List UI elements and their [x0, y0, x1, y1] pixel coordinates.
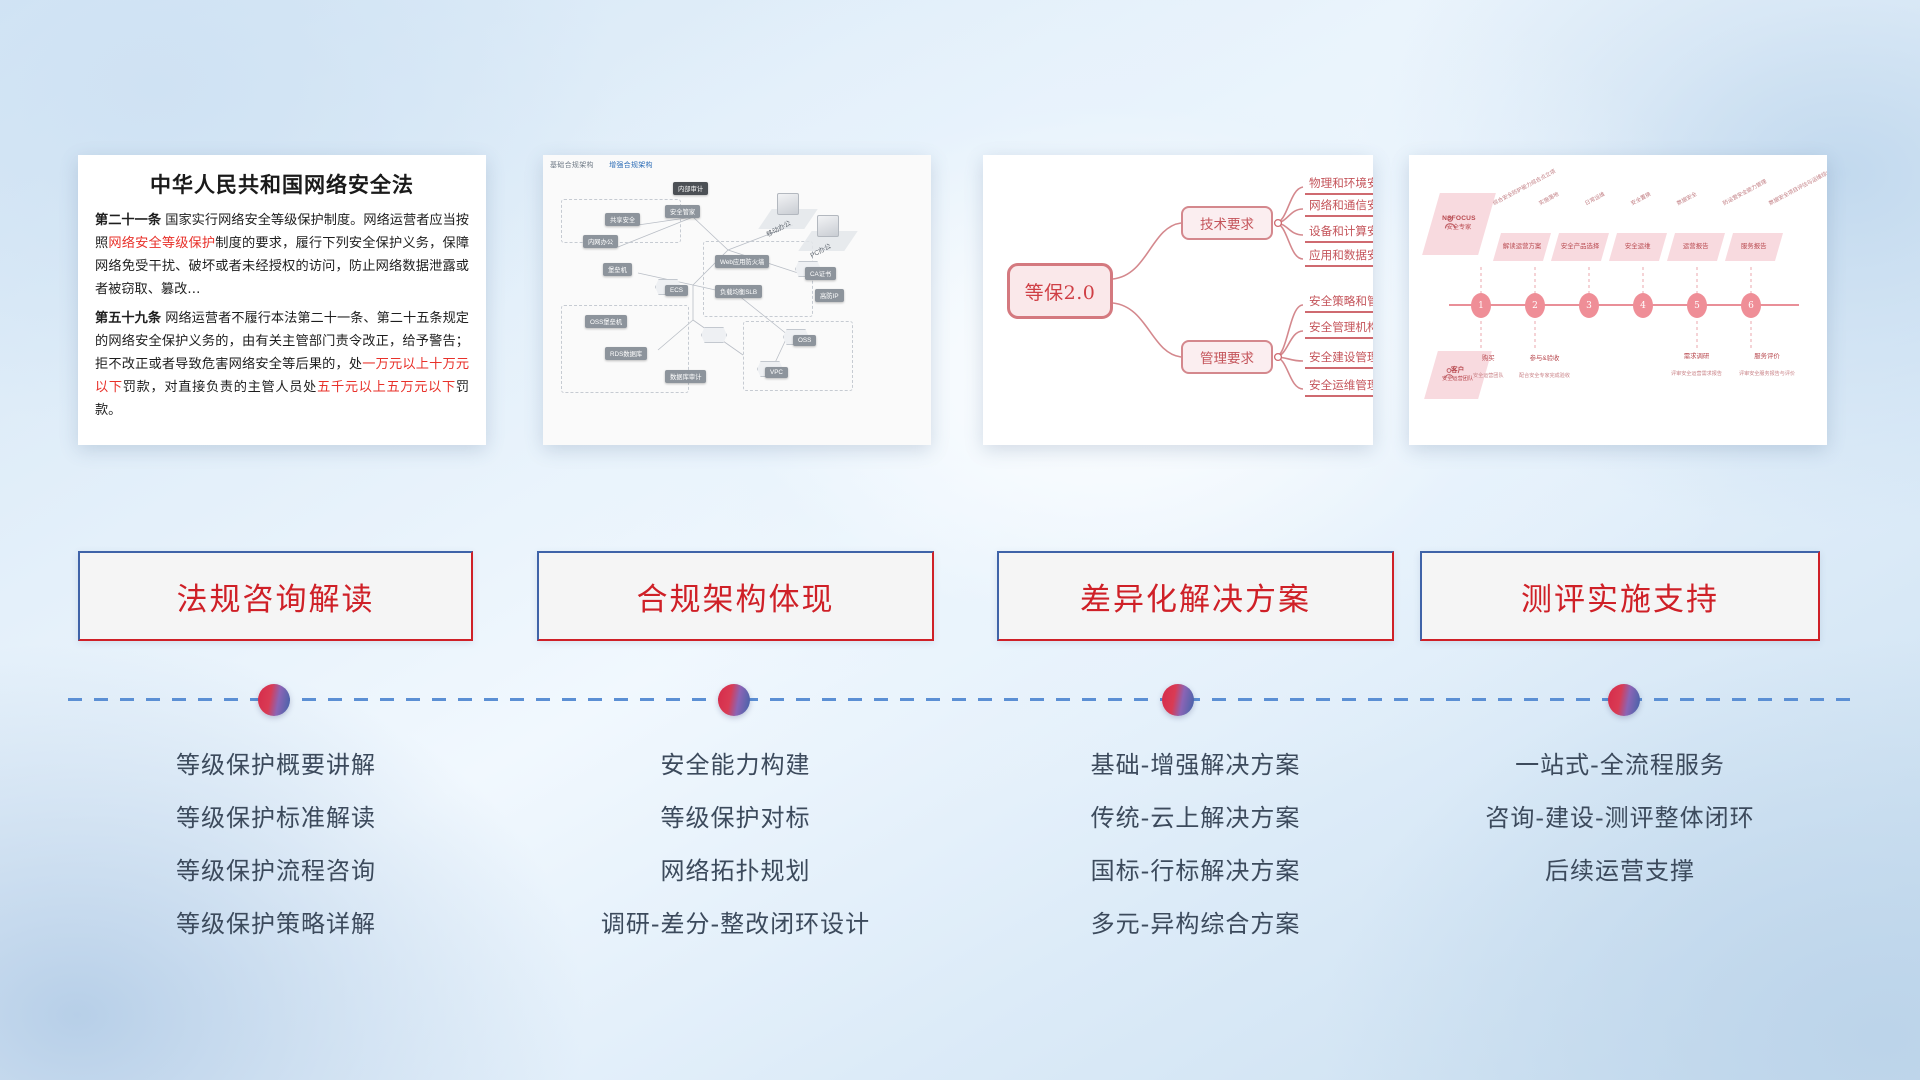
arch-node: 内网办公 — [583, 235, 618, 248]
flow-bottom-label: 需求调研评审安全运营需求报告 — [1671, 351, 1722, 377]
flow-bottom-title: 服务评价 — [1739, 351, 1795, 360]
law-paragraph: 第二十一条 国家实行网络安全等级保护制度。网络运营者应当按照网络安全等级保护制度… — [95, 210, 469, 302]
flow-bottom-title: 购买 — [1473, 353, 1504, 362]
flow-phase: 安全运维 — [1609, 233, 1667, 261]
mindmap-leaf: 物理和环境安全 — [1305, 175, 1373, 195]
section-items-1: 等级保护概要讲解等级保护标准解读等级保护流程咨询等级保护策略详解 — [78, 745, 474, 957]
arch-hex — [701, 327, 727, 343]
flow-bottom-label: 参与&验收配合安全专家完成验收 — [1519, 353, 1570, 379]
section-item: 等级保护对标 — [537, 798, 934, 833]
section-item: 网络拓扑规划 — [537, 851, 934, 886]
flow-bottom-subtitle: 评审安全服务报告与评价 — [1739, 370, 1795, 377]
flow-step-4: 4 — [1633, 293, 1653, 318]
law-title: 中华人民共和国网络安全法 — [95, 169, 469, 199]
architecture-image-card: 基础合规架构 增强合规架构 — [543, 155, 931, 445]
section-title-label: 法规咨询解读 — [177, 574, 375, 619]
law-article-number: 第五十九条 — [95, 311, 161, 326]
arch-node: ECS — [665, 285, 688, 296]
arch-node: 内部审计 — [673, 182, 708, 195]
section-title-label: 合规架构体现 — [637, 574, 835, 619]
mindmap-leaf: 安全建设管理 — [1305, 349, 1373, 369]
person-star-icon — [1442, 215, 1458, 231]
section-item: 等级保护流程咨询 — [78, 851, 474, 886]
section-item: 传统-云上解决方案 — [997, 798, 1394, 833]
arch-device-cube — [777, 193, 799, 215]
section-title-label: 测评实施支持 — [1521, 574, 1719, 619]
arch-zone — [703, 241, 813, 317]
arch-node: 高防IP — [815, 289, 844, 302]
timeline-dot-2 — [718, 684, 750, 716]
section-item: 咨询-建设-测评整体闭环 — [1420, 798, 1820, 833]
law-content: 中华人民共和国网络安全法 第二十一条 国家实行网络安全等级保护制度。网络运营者应… — [78, 155, 486, 439]
flow-phase: 服务报告 — [1725, 233, 1783, 261]
law-article-number: 第二十一条 — [95, 213, 161, 228]
law-paragraph: 第五十九条 网络运营者不履行本法第二十一条、第二十五条规定的网络安全保护义务的，… — [95, 308, 469, 423]
architecture-diagram: 基础合规架构 增强合规架构 — [543, 155, 931, 445]
timeline-dot-4 — [1608, 684, 1640, 716]
section-items-4: 一站式-全流程服务咨询-建设-测评整体闭环后续运营支撑 — [1420, 745, 1820, 904]
section-item: 多元-异构综合方案 — [997, 904, 1394, 939]
slide-canvas: 中华人民共和国网络安全法 第二十一条 国家实行网络安全等级保护制度。网络运营者应… — [0, 0, 1920, 1080]
law-highlight-text: 网络安全等级保护 — [108, 236, 215, 251]
section-item: 国标-行标解决方案 — [997, 851, 1394, 886]
arch-node: 负载均衡SLB — [715, 285, 762, 298]
mindmap-image-card: 等保2.0 技术要求 管理要求 物理和环境安全网络和通信安全设备和计算安全应用和… — [983, 155, 1373, 445]
section-items-3: 基础-增强解决方案传统-云上解决方案国标-行标解决方案多元-异构综合方案 — [997, 745, 1394, 957]
service-flow-image-card: NSFOCUS 安全专家 综合安全防护能力综合点立项实施落地日常运维安全置换数据… — [1409, 155, 1827, 445]
section-title-label: 差异化解决方案 — [1080, 574, 1311, 619]
flow-bottom-subtitle: 配合安全专家完成验收 — [1519, 372, 1570, 379]
flow-bottom-subtitle: 安全运营团队 — [1473, 372, 1504, 379]
flow-phase: 解读运营方案 — [1493, 233, 1551, 261]
arch-node: RDS数据库 — [605, 347, 647, 360]
flow-step-1: 1 — [1471, 293, 1491, 318]
flow-step-6: 6 — [1741, 293, 1761, 318]
arch-node: CA证书 — [805, 267, 836, 280]
flow-bottom-label: 购买安全运营团队 — [1473, 353, 1504, 379]
arch-device-cube — [817, 215, 839, 237]
section-title-box-1[interactable]: 法规咨询解读 — [78, 551, 473, 641]
section-item: 一站式-全流程服务 — [1420, 745, 1820, 780]
arch-node: OSS — [793, 335, 816, 346]
timeline-dot-1 — [258, 684, 290, 716]
section-title-box-2[interactable]: 合规架构体现 — [537, 551, 934, 641]
arch-node: 堡垒机 — [603, 263, 632, 276]
flow-step-3: 3 — [1579, 293, 1599, 318]
arch-node: VPC — [765, 367, 788, 378]
flow-bottom-label: 服务评价评审安全服务报告与评价 — [1739, 351, 1795, 377]
section-item: 调研-差分-整改闭环设计 — [537, 904, 934, 939]
law-highlight-text: 五千元以上五万元以下 — [317, 380, 456, 395]
mindmap-leaf: 设备和计算安全 — [1305, 223, 1373, 243]
flow-step-2: 2 — [1525, 293, 1545, 318]
mindmap-leaf: 应用和数据安全 — [1305, 247, 1373, 267]
timeline-axis — [68, 698, 1852, 701]
section-item: 后续运营支撑 — [1420, 851, 1820, 886]
arch-node: 安全管家 — [665, 205, 700, 218]
law-body-text: 罚款，对直接负责的主管人员处 — [123, 380, 317, 395]
service-flow-diagram: NSFOCUS 安全专家 综合安全防护能力综合点立项实施落地日常运维安全置换数据… — [1409, 155, 1827, 445]
person-icon — [1442, 367, 1456, 381]
mindmap-leaf: 安全管理机构和人员 — [1305, 319, 1373, 339]
arch-node: 数据库审计 — [665, 370, 706, 383]
arch-node: OSS堡垒机 — [585, 315, 627, 328]
flow-bottom-title: 参与&验收 — [1519, 353, 1570, 362]
section-title-box-3[interactable]: 差异化解决方案 — [997, 551, 1394, 641]
flow-bottom-title: 需求调研 — [1671, 351, 1722, 360]
mindmap-leaf: 安全策略和管理制度 — [1305, 293, 1373, 313]
section-item: 安全能力构建 — [537, 745, 934, 780]
mindmap-root: 等保2.0 — [1007, 263, 1113, 319]
timeline-dot-3 — [1162, 684, 1194, 716]
section-items-2: 安全能力构建等级保护对标网络拓扑规划调研-差分-整改闭环设计 — [537, 745, 934, 957]
mindmap-leaf: 网络和通信安全 — [1305, 197, 1373, 217]
mindmap-branch-mgmt: 管理要求 — [1181, 340, 1273, 374]
arch-node: 共享安全 — [605, 213, 640, 226]
section-title-box-4[interactable]: 测评实施支持 — [1420, 551, 1820, 641]
section-item: 基础-增强解决方案 — [997, 745, 1394, 780]
section-item: 等级保护标准解读 — [78, 798, 474, 833]
arch-node: Web应用防火墙 — [715, 255, 769, 268]
law-image-card: 中华人民共和国网络安全法 第二十一条 国家实行网络安全等级保护制度。网络运营者应… — [78, 155, 486, 445]
flow-phase: 安全产品选择 — [1551, 233, 1609, 261]
section-item: 等级保护概要讲解 — [78, 745, 474, 780]
section-item: 等级保护策略详解 — [78, 904, 474, 939]
flow-phase: 运营报告 — [1667, 233, 1725, 261]
mindmap-leaf: 安全运维管理 — [1305, 377, 1373, 397]
mindmap-branch-tech: 技术要求 — [1181, 206, 1273, 240]
flow-bottom-subtitle: 评审安全运营需求报告 — [1671, 370, 1722, 377]
flow-step-5: 5 — [1687, 293, 1707, 318]
mindmap-diagram: 等保2.0 技术要求 管理要求 物理和环境安全网络和通信安全设备和计算安全应用和… — [983, 155, 1373, 445]
